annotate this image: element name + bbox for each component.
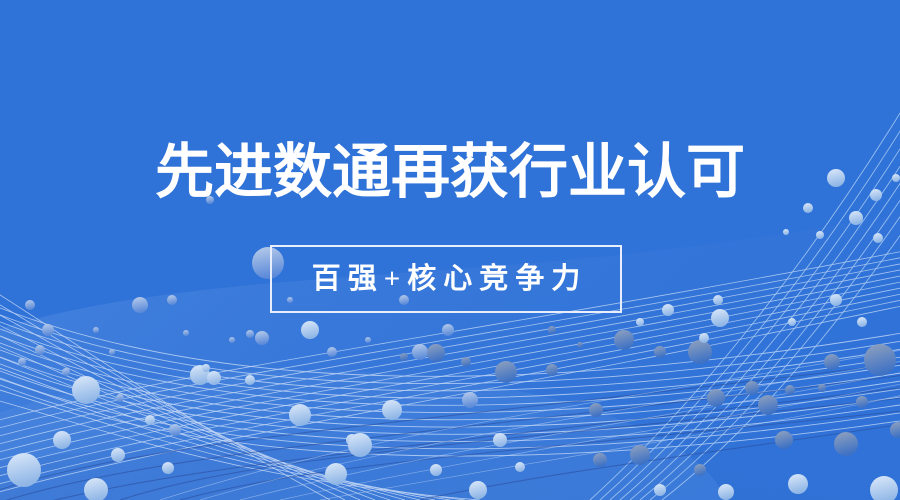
promo-banner: 先进数通再获行业认可 百强+核心竞争力 bbox=[0, 0, 900, 500]
page-title: 先进数通再获行业认可 bbox=[0, 137, 900, 207]
subtitle-label: 百强+核心竞争力 bbox=[305, 262, 588, 296]
banner-content: 先进数通再获行业认可 百强+核心竞争力 bbox=[0, 0, 900, 500]
subtitle-badge: 百强+核心竞争力 bbox=[270, 245, 622, 313]
